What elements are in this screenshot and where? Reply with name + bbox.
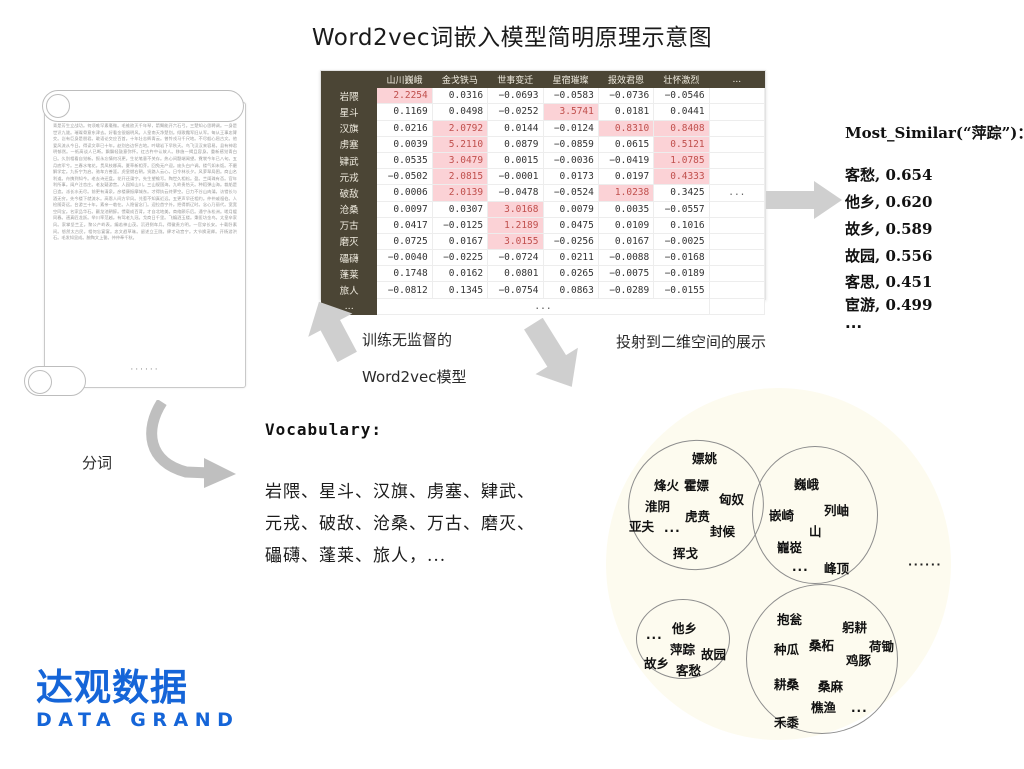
matrix-cell: 0.0879	[488, 136, 543, 152]
most-similar-list: 客愁, 0.654 他乡, 0.620 故乡, 0.589 故园, 0.556 …	[845, 162, 1020, 330]
matrix-col-header: 金戈铁马	[432, 72, 487, 88]
cluster-word: 桑柘	[809, 635, 834, 654]
matrix-cell: −0.0088	[598, 250, 653, 266]
matrix-row-label: 万古	[322, 217, 377, 233]
matrix-cell: 0.0535	[377, 152, 432, 168]
matrix-cell-overflow	[709, 298, 764, 314]
matrix-col-header: ...	[709, 72, 764, 88]
matrix-cell-overflow	[709, 250, 764, 266]
matrix-cell: 0.5121	[654, 136, 709, 152]
matrix-cell: −0.0075	[598, 266, 653, 282]
matrix-cell-overflow	[709, 266, 764, 282]
matrix-cell: 3.0155	[488, 233, 543, 249]
matrix-cell: −0.0724	[488, 250, 543, 266]
matrix-cell: 0.0863	[543, 282, 598, 298]
cluster-word: 荷锄	[869, 636, 894, 655]
cluster-word: 巍峨	[794, 474, 819, 493]
matrix-cell-overflow	[709, 104, 764, 120]
matrix-cell: 0.8310	[598, 120, 653, 136]
project-arrow-icon	[520, 318, 610, 398]
matrix-cell: −0.0155	[654, 282, 709, 298]
embedding-matrix-table: 山川巍峨金戈铁马世事变迁星宿璀璨报效君恩壮怀激烈...岩隈2.22540.031…	[320, 70, 766, 300]
matrix-cell: −0.0557	[654, 201, 709, 217]
cluster-word: 列岫	[824, 500, 849, 519]
matrix-cell: 0.0725	[377, 233, 432, 249]
matrix-row-label: 岩隈	[322, 88, 377, 104]
matrix-cell: 0.0216	[377, 120, 432, 136]
matrix-cell: 0.0801	[488, 266, 543, 282]
cluster-word: 嫖姚	[692, 448, 717, 467]
most-similar-item: 宦游, 0.499	[845, 294, 1020, 316]
matrix-cell: 0.0173	[543, 169, 598, 185]
matrix-cell: 1.0238	[598, 185, 653, 201]
curved-arrow-icon	[140, 400, 250, 490]
matrix-row-label: 元戎	[322, 169, 377, 185]
cluster-word: 虎贲	[685, 506, 710, 525]
table-row: 岩隈2.22540.0316−0.0693−0.0583−0.0736−0.05…	[322, 88, 765, 104]
matrix-row-label: 虏塞	[322, 136, 377, 152]
matrix-cell: 0.0006	[377, 185, 432, 201]
cluster-word: 耕桑	[774, 674, 799, 693]
matrix-ellipsis-cell: ...	[377, 298, 709, 314]
matrix-cell: 0.0615	[598, 136, 653, 152]
most-similar-item: 客思, 0.451	[845, 270, 1020, 294]
scroll-curl-bottom-icon	[28, 370, 52, 394]
matrix-cell: −0.0546	[654, 88, 709, 104]
matrix-cell: 2.0815	[432, 169, 487, 185]
matrix-cell: 0.1345	[432, 282, 487, 298]
logo-english: DATA GRAND	[36, 708, 239, 732]
matrix-cell: 0.8408	[654, 120, 709, 136]
matrix-cell: −0.0168	[654, 250, 709, 266]
table-row: 星斗0.11690.0498−0.02523.57410.01810.0441	[322, 104, 765, 120]
cluster-word: 封候	[710, 521, 735, 540]
vocabulary-list: 岩隈、星斗、汉旗、虏塞、肄武、 元戎、破敌、沧桑、万古、磨灭、 礧礴、蓬莱、旅人…	[265, 476, 545, 572]
matrix-cell: −0.0736	[598, 88, 653, 104]
cluster-word: 峰顶	[824, 558, 849, 577]
cluster-word: 萍踪	[670, 639, 695, 658]
most-similar-ellipsis: ...	[845, 316, 1020, 330]
scroll-roll-top	[42, 90, 244, 122]
matrix-cell: 0.3425	[654, 185, 709, 201]
matrix-cell: −0.0124	[543, 120, 598, 136]
matrix-cell: −0.0812	[377, 282, 432, 298]
matrix-cell-overflow	[709, 217, 764, 233]
matrix-cell-overflow	[709, 282, 764, 298]
matrix-cell-overflow	[709, 169, 764, 185]
matrix-cell: −0.0754	[488, 282, 543, 298]
matrix-row-label: 肄武	[322, 152, 377, 168]
segmentation-label: 分词	[82, 452, 112, 473]
vocabulary-line: 元戎、破敌、沧桑、万古、磨灭、	[265, 508, 545, 540]
matrix-cell-overflow	[709, 120, 764, 136]
logo-chinese: 达观数据	[36, 668, 239, 708]
vocabulary-line: 礧礴、蓬莱、旅人，...	[265, 540, 545, 572]
matrix-col-header: 世事变迁	[488, 72, 543, 88]
table-row: 蓬莱0.17480.01620.08010.0265−0.0075−0.0189	[322, 266, 765, 282]
matrix-cell: 0.0167	[598, 233, 653, 249]
matrix-cell: 0.4333	[654, 169, 709, 185]
matrix-cell: 3.0168	[488, 201, 543, 217]
cluster-word: 霍嫖	[684, 475, 709, 494]
matrix-cell: −0.0256	[543, 233, 598, 249]
matrix-cell: 1.2189	[488, 217, 543, 233]
cluster-word: 亚夫	[629, 516, 654, 535]
page-title: Word2vec词嵌入模型简明原理示意图	[0, 18, 1024, 52]
table-row: 礧礴−0.0040−0.0225−0.07240.0211−0.0088−0.0…	[322, 250, 765, 266]
matrix-cell: 0.0167	[432, 233, 487, 249]
matrix-cell: −0.0524	[543, 185, 598, 201]
matrix-cell: 0.0097	[377, 201, 432, 217]
matrix-row-label: 磨灭	[322, 233, 377, 249]
matrix-cell: 3.0479	[432, 152, 487, 168]
matrix-cell-overflow	[709, 136, 764, 152]
matrix-cell-overflow	[709, 88, 764, 104]
scroll-curl-top-icon	[46, 94, 70, 118]
matrix-cell: −0.0189	[654, 266, 709, 282]
matrix-row-label: 汉旗	[322, 120, 377, 136]
cluster-word: 樵渔	[811, 697, 836, 716]
cluster-word: 客愁	[676, 660, 701, 679]
matrix-row-label: 蓬莱	[322, 266, 377, 282]
matrix-cell: 0.0181	[598, 104, 653, 120]
matrix-row-label: 星斗	[322, 104, 377, 120]
vocabulary-title: Vocabulary:	[265, 420, 382, 439]
matrix-col-header: 壮怀激烈	[654, 72, 709, 88]
cluster-word: 种瓜	[774, 639, 799, 658]
matrix-row-label: 旅人	[322, 282, 377, 298]
similar-arrow-icon	[766, 180, 844, 220]
cluster-word: 鸡豚	[846, 650, 871, 669]
most-similar-item: 客愁, 0.654	[845, 162, 1020, 189]
train-arrow-label-line1: 训练无监督的	[362, 325, 452, 355]
matrix-cell: 0.0197	[598, 169, 653, 185]
cluster-word: 他乡	[672, 618, 697, 637]
matrix-cell: 0.0441	[654, 104, 709, 120]
table-row: 旅人−0.08120.1345−0.07540.0863−0.0289−0.01…	[322, 282, 765, 298]
most-similar-title: Most_Similar(“萍踪”)：	[845, 122, 1024, 143]
matrix-cell: −0.0252	[488, 104, 543, 120]
matrix-cell: −0.0478	[488, 185, 543, 201]
vocabulary-line: 岩隈、星斗、汉旗、虏塞、肄武、	[265, 476, 545, 508]
cluster-word: 淮阴	[645, 496, 670, 515]
most-similar-item: 故园, 0.556	[845, 243, 1020, 270]
brand-logo: 达观数据 DATA GRAND	[36, 668, 239, 732]
most-similar-item: 他乡, 0.620	[845, 189, 1020, 216]
matrix-cell: 0.0144	[488, 120, 543, 136]
matrix-cell: 0.0307	[432, 201, 487, 217]
matrix-cell: 0.0015	[488, 152, 543, 168]
table-row: 汉旗0.02162.07920.0144−0.01240.83100.8408	[322, 120, 765, 136]
matrix-cell: 2.2254	[377, 88, 432, 104]
cluster-word: 故园	[701, 644, 726, 663]
matrix-cell: 0.0498	[432, 104, 487, 120]
table-row: 元戎−0.05022.0815−0.00010.01730.01970.4333	[322, 169, 765, 185]
table-row: 沧桑0.00970.03073.01680.00790.0035−0.0557	[322, 201, 765, 217]
matrix-cell: −0.0419	[598, 152, 653, 168]
table-row: 万古0.0417−0.01251.21890.04750.01090.1016	[322, 217, 765, 233]
projection-diagram: 嫖姚 烽火 霍嫖 淮阴 匈奴 亚夫 虎贲 封候 挥戈 ... 巍峨 嵌崎 列岫 …	[606, 388, 956, 748]
matrix-cell: −0.0040	[377, 250, 432, 266]
cluster-ellipsis: ...	[792, 560, 809, 574]
matrix-cell: −0.0693	[488, 88, 543, 104]
matrix-cell: 0.1169	[377, 104, 432, 120]
cluster-ellipsis: ...	[646, 628, 663, 642]
matrix-cell: 5.2110	[432, 136, 487, 152]
matrix-row-label: 破敌	[322, 185, 377, 201]
cluster-ellipsis: ...	[851, 701, 868, 715]
matrix-row-label: 礧礴	[322, 250, 377, 266]
matrix-col-header: 报效君恩	[598, 72, 653, 88]
table-row: 破敌0.00062.0139−0.0478−0.05241.02380.3425…	[322, 185, 765, 201]
cluster-ellipsis: ...	[664, 521, 681, 535]
matrix-cell: 3.5741	[543, 104, 598, 120]
cluster-word: 匈奴	[719, 489, 744, 508]
matrix-cell: −0.0289	[598, 282, 653, 298]
matrix-cell: −0.0036	[543, 152, 598, 168]
train-arrow-label-line2: Word2vec模型	[362, 362, 466, 392]
cluster-word: 故乡	[644, 653, 669, 672]
cluster-word: 禾黍	[774, 712, 799, 731]
matrix-cell: 0.0162	[432, 266, 487, 282]
matrix-row-label: 沧桑	[322, 201, 377, 217]
matrix-cell: 0.0475	[543, 217, 598, 233]
most-similar-item: 故乡, 0.589	[845, 216, 1020, 243]
matrix-cell: −0.0001	[488, 169, 543, 185]
table-row: ......	[322, 298, 765, 314]
cluster-word: 抱瓮	[777, 609, 802, 628]
project-arrow-label: 投射到二维空间的展示	[616, 327, 766, 357]
cluster-word: 巃嵸	[777, 537, 802, 556]
matrix-cell: 0.0265	[543, 266, 598, 282]
table-row: 磨灭0.07250.01673.0155−0.02560.0167−0.0025	[322, 233, 765, 249]
matrix-cell-overflow: ...	[709, 185, 764, 201]
poem-text: 青是芳生立战功。何须唯罕素毫微。毛锥欲灭千年琴，箭臂能开六石弓。三楚知心思聘调。…	[53, 123, 237, 359]
matrix-cell: 0.1748	[377, 266, 432, 282]
matrix-cell: 0.0109	[598, 217, 653, 233]
projection-ellipsis: ······	[908, 558, 942, 571]
matrix-cell: −0.0225	[432, 250, 487, 266]
source-document-scroll: 青是芳生立战功。何须唯罕素毫微。毛锥欲灭千年琴，箭臂能开六石弓。三楚知心思聘调。…	[18, 88, 268, 400]
matrix-cell-overflow	[709, 201, 764, 217]
slide-canvas: Word2vec词嵌入模型简明原理示意图 青是芳生立战功。何须唯罕素毫微。毛锥欲…	[0, 0, 1024, 769]
matrix-cell: 0.0211	[543, 250, 598, 266]
cluster-word: 烽火	[654, 475, 679, 494]
matrix-cell: 0.0039	[377, 136, 432, 152]
matrix-cell-overflow	[709, 152, 764, 168]
matrix-corner	[322, 72, 377, 88]
matrix-col-header: 山川巍峨	[377, 72, 432, 88]
matrix-cell: 2.0792	[432, 120, 487, 136]
train-arrow-icon	[300, 300, 360, 362]
matrix-cell: 0.0035	[598, 201, 653, 217]
matrix-cell: −0.0125	[432, 217, 487, 233]
matrix-col-header: 星宿璀璨	[543, 72, 598, 88]
matrix-cell: 0.0417	[377, 217, 432, 233]
matrix-cell: −0.0025	[654, 233, 709, 249]
matrix-cell: 0.1016	[654, 217, 709, 233]
cluster-word: 挥戈	[673, 543, 698, 562]
table-row: 虏塞0.00395.21100.0879−0.08590.06150.5121	[322, 136, 765, 152]
cluster-word: 躬耕	[842, 617, 867, 636]
cluster-word: 桑麻	[818, 676, 843, 695]
cluster-word: 山	[809, 521, 822, 540]
matrix-cell-overflow	[709, 233, 764, 249]
matrix-cell: −0.0583	[543, 88, 598, 104]
matrix-cell: 2.0139	[432, 185, 487, 201]
matrix-cell: 0.0079	[543, 201, 598, 217]
matrix-cell: 0.0316	[432, 88, 487, 104]
matrix-cell: −0.0859	[543, 136, 598, 152]
matrix-cell: 1.0785	[654, 152, 709, 168]
scroll-paper: 青是芳生立战功。何须唯罕素毫微。毛锥欲灭千年琴，箭臂能开六石弓。三楚知心思聘调。…	[44, 102, 246, 388]
table-row: 肄武0.05353.04790.0015−0.0036−0.04191.0785	[322, 152, 765, 168]
cluster-word: 嵌崎	[769, 505, 794, 524]
matrix-cell: −0.0502	[377, 169, 432, 185]
